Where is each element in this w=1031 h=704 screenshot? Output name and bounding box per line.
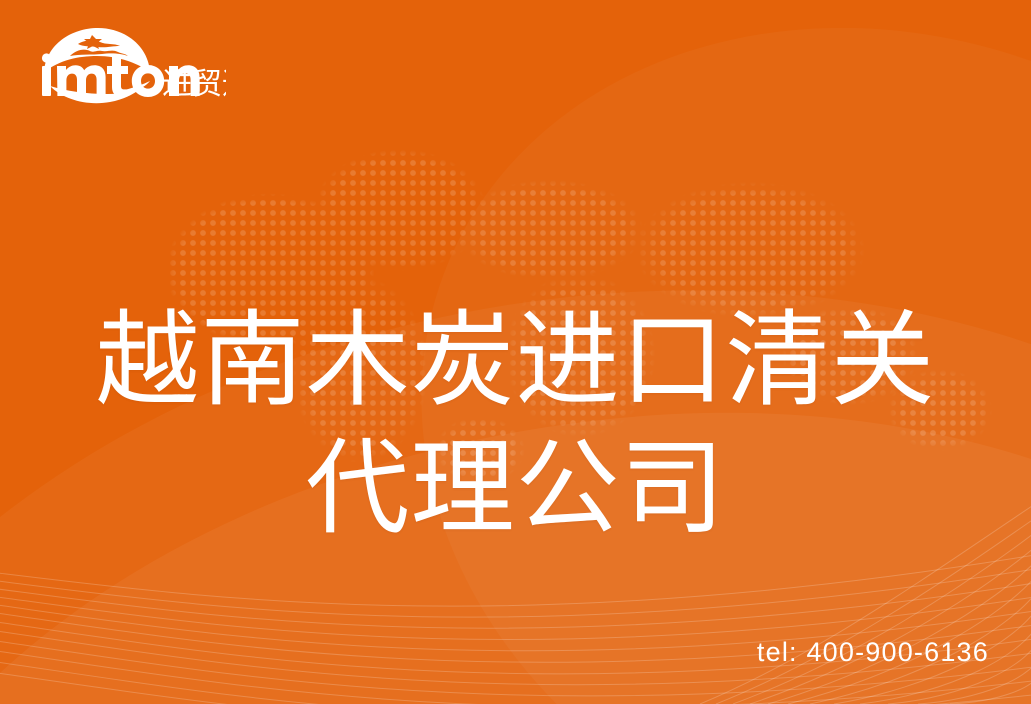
page-title: 越南木炭进口清关 代理公司	[0, 296, 1031, 552]
contact-phone[interactable]: tel: 400-900-6136	[757, 637, 989, 668]
promo-banner: 进贸通 ® 越南木炭进口清关 代理公司 tel: 400-900-6136	[0, 0, 1031, 704]
page-title-line-1: 越南木炭进口清关	[0, 296, 1031, 424]
logo-chinese-name: 进贸通	[162, 67, 226, 102]
page-title-line-2: 代理公司	[0, 424, 1031, 552]
imton-logo[interactable]: 进贸通 ®	[36, 26, 226, 104]
